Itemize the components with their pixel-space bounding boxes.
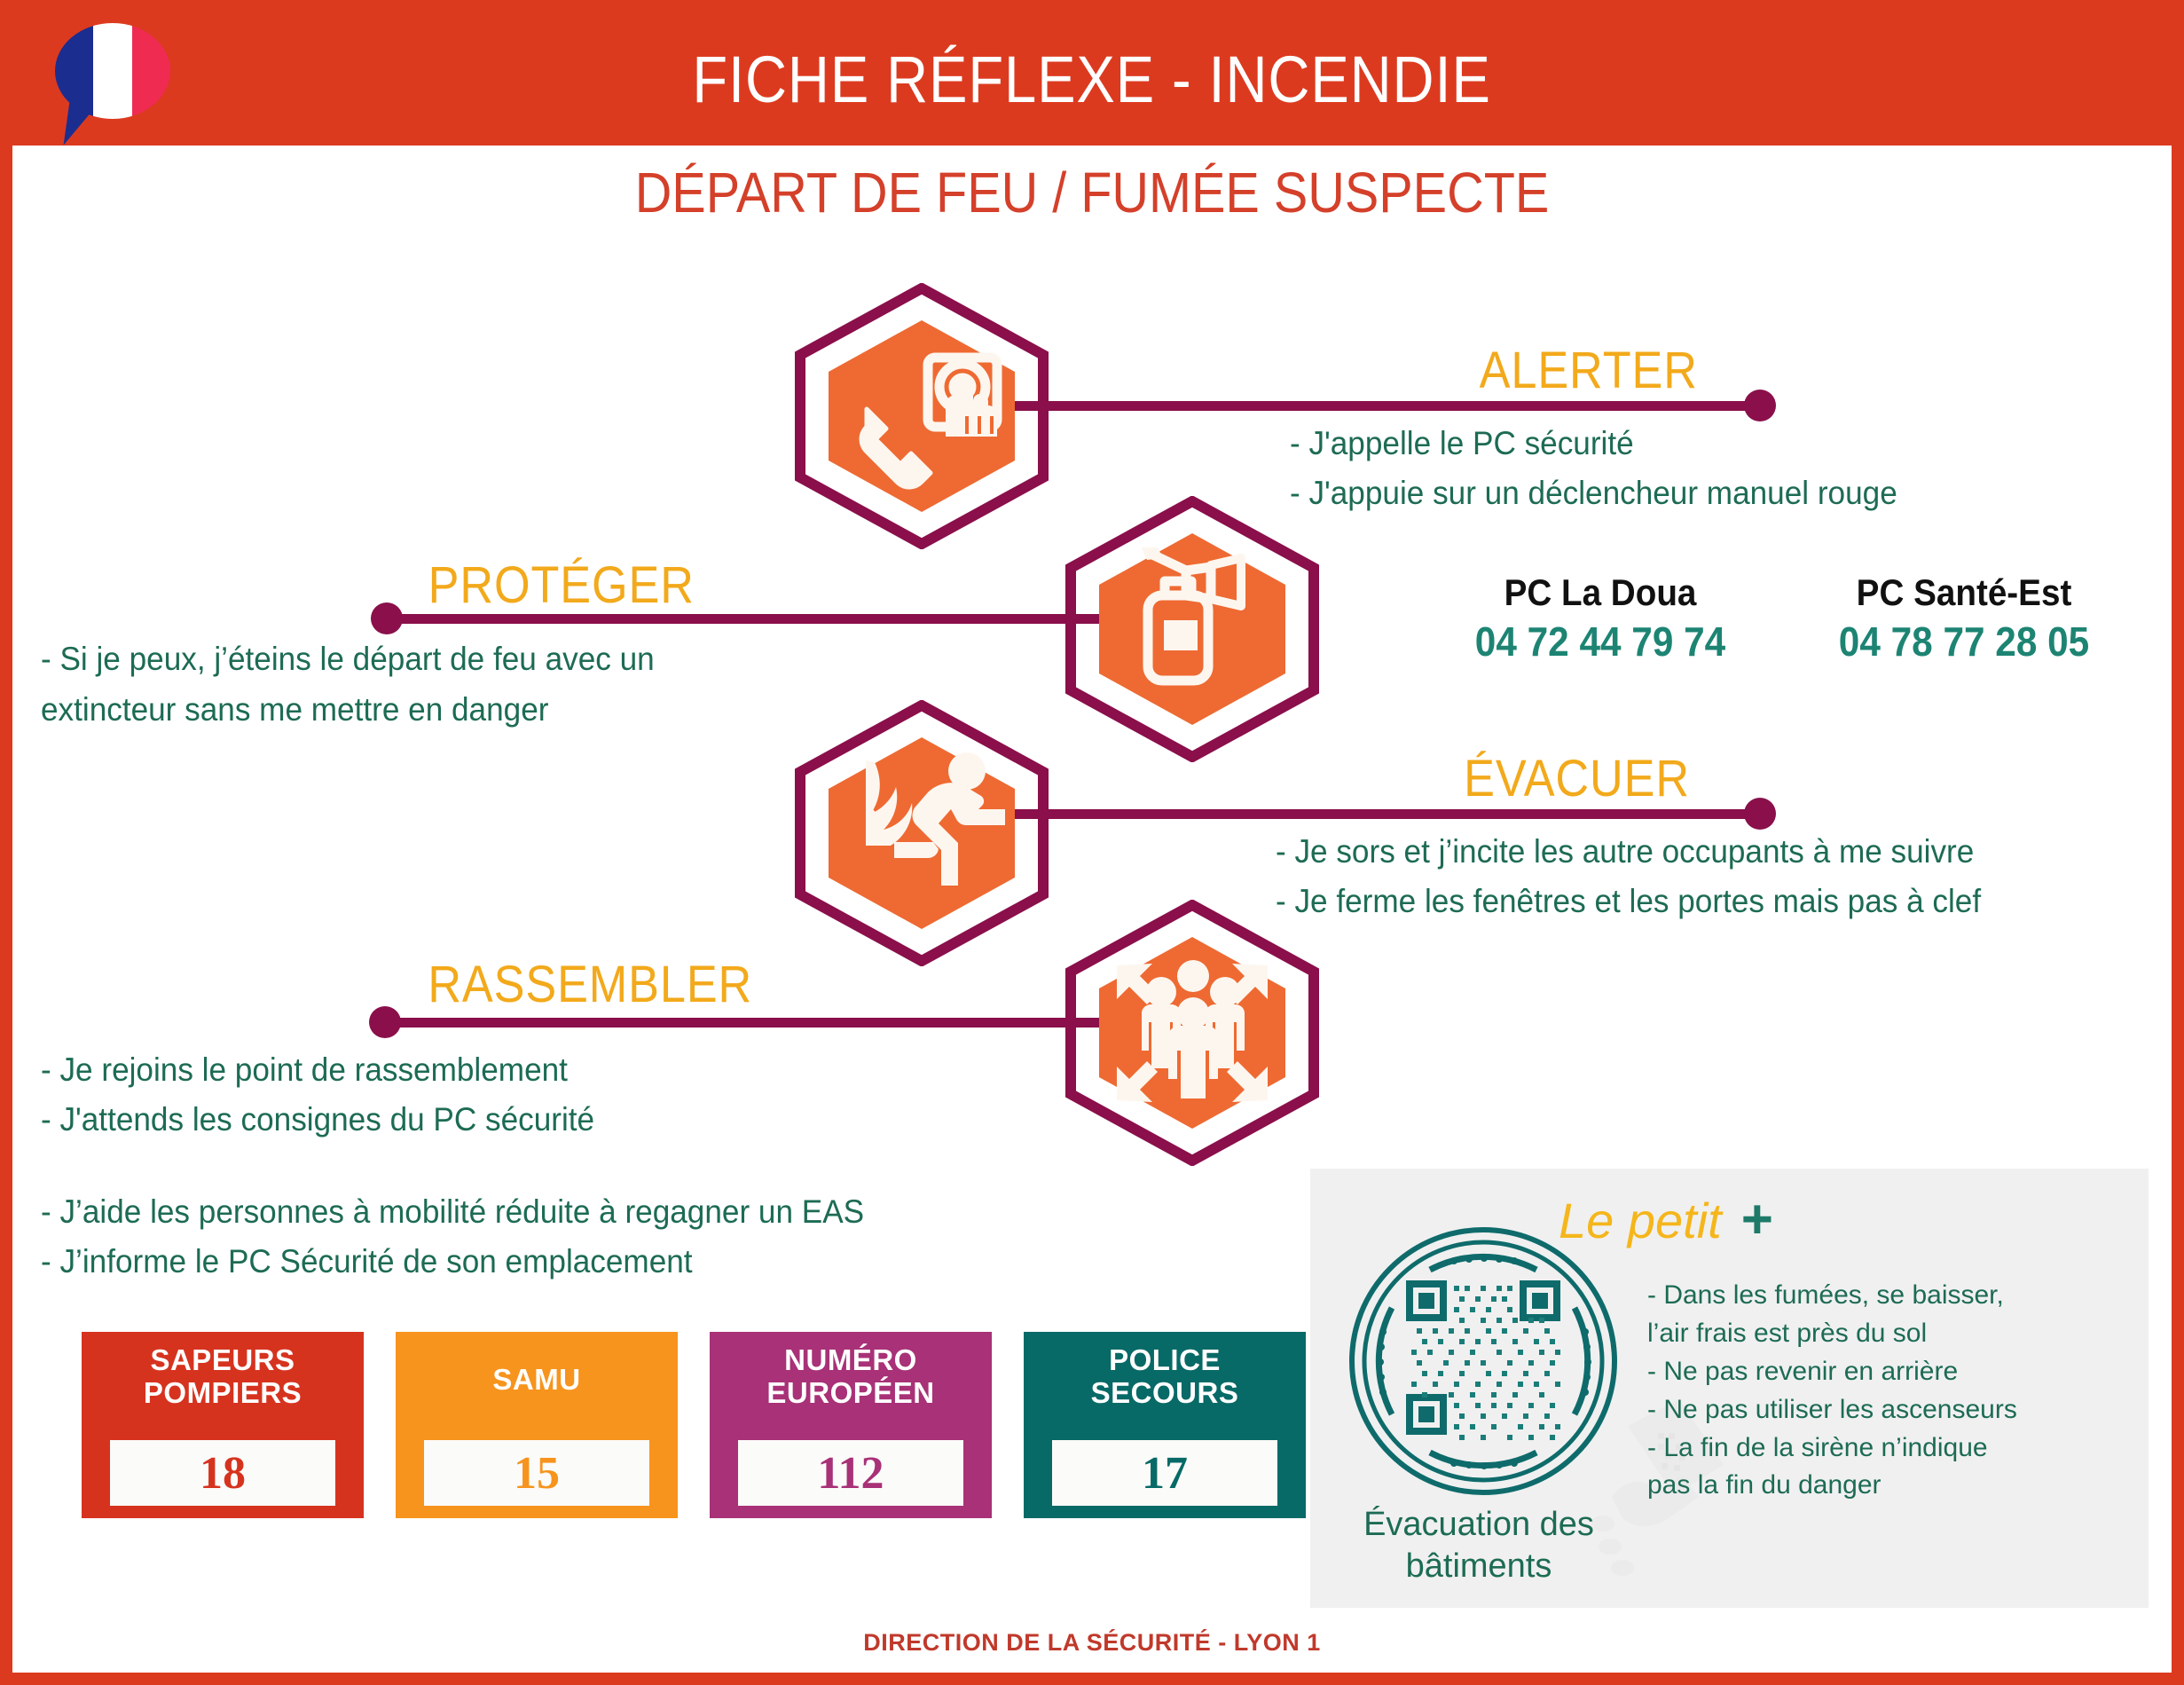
tip-line: - Ne pas utiliser les ascenseurs [1647, 1391, 2017, 1429]
emergency-card-label-line2: POMPIERS [144, 1377, 302, 1410]
emergency-card-numberbox: 112 [738, 1440, 963, 1506]
tip-line: l’air frais est près du sol [1647, 1315, 2017, 1353]
emergency-numbers-row: SAPEURS POMPIERS 18 SAMU 15 NUMÉRO EUROP… [82, 1332, 1306, 1518]
emergency-card-label-line2: EUROPÉEN [766, 1377, 934, 1410]
emergency-card-label-line2: SECOURS [1091, 1377, 1239, 1410]
le-petit-plus-panel: Le petit+ [1310, 1169, 2149, 1608]
phone-call-point-icon [793, 283, 1050, 549]
step-body-rassembler-line1: - Je rejoins le point de rassemblement [41, 1049, 568, 1091]
pc-contact-phone[interactable]: 04 72 44 79 74 [1462, 618, 1740, 665]
emergency-card-number: 17 [1142, 1447, 1188, 1500]
pc-contact-name: PC Santé-Est [1809, 571, 2119, 614]
emergency-card-numberbox: 18 [110, 1440, 335, 1506]
plus-sign-icon: + [1741, 1189, 1773, 1250]
tip-line: - Dans les fumées, se baisser, [1647, 1277, 2017, 1315]
step-body-rassembler-line2: - J'attends les consignes du PC sécurité [41, 1098, 594, 1140]
pmr-note-line1: - J’aide les personnes à mobilité réduit… [41, 1191, 864, 1232]
step-title-rassembler: RASSEMBLER [428, 955, 752, 1014]
hex-rassembler [1064, 900, 1321, 1166]
connector-rassembler [383, 1018, 1142, 1028]
pc-contact-sante-est: PC Santé-Est 04 78 77 28 05 [1795, 571, 2133, 665]
hex-proteger [1064, 496, 1321, 762]
step-body-alerter-line1: - J'appelle le PC sécurité [1290, 422, 1634, 464]
le-petit-plus-tips: - Dans les fumées, se baisser, l’air fra… [1647, 1277, 2017, 1505]
emergency-card-pompiers[interactable]: SAPEURS POMPIERS 18 [82, 1332, 364, 1518]
step-body-alerter-line2: - J'appuie sur un déclencheur manuel rou… [1290, 472, 1897, 514]
hex-alerter [793, 283, 1050, 549]
emergency-card-samu[interactable]: SAMU 15 [396, 1332, 678, 1518]
connector-evacuer [1010, 809, 1760, 819]
emergency-card-label-line1: SAPEURS [150, 1344, 295, 1377]
emergency-card-label-line1: SAMU [492, 1364, 580, 1397]
assembly-point-people-icon [1064, 900, 1321, 1166]
step-title-evacuer: ÉVACUER [1464, 749, 1690, 808]
tip-line: - La fin de la sirène n’indique [1647, 1429, 2017, 1468]
qr-caption-line1: Évacuation des [1319, 1504, 1638, 1546]
step-body-proteger-line1: - Si je peux, j’éteins le départ de feu … [41, 638, 655, 680]
poster-subtitle: DÉPART DE FEU / FUMÉE SUSPECTE [121, 160, 2064, 225]
connector-dot-proteger [371, 602, 403, 634]
poster-footer: DIRECTION DE LA SÉCURITÉ - LYON 1 [12, 1629, 2172, 1657]
emergency-card-label-line1: POLICE [1109, 1344, 1221, 1377]
emergency-card-label-line1: NUMÉRO [784, 1344, 917, 1377]
emergency-card-number: 18 [200, 1447, 246, 1500]
connector-proteger [385, 614, 1139, 624]
step-body-evacuer-line2: - Je ferme les fenêtres et les portes ma… [1276, 880, 1981, 922]
tip-line: pas la fin du danger [1647, 1467, 2017, 1505]
qr-caption-line2: bâtiments [1319, 1546, 1638, 1587]
connector-dot-evacuer [1744, 798, 1776, 830]
emergency-card-numberbox: 17 [1052, 1440, 1277, 1506]
connector-alerter [1010, 401, 1760, 411]
pc-contact-name: PC La Doua [1462, 571, 1740, 614]
pc-contact-la-doua: PC La Doua 04 72 44 79 74 [1449, 571, 1751, 665]
poster-header: FICHE RÉFLEXE - INCENDIE [12, 12, 2172, 146]
connector-dot-alerter [1744, 390, 1776, 421]
hex-evacuer [793, 700, 1050, 966]
fire-extinguisher-icon [1064, 496, 1321, 762]
step-body-evacuer-line1: - Je sors et j’incite les autre occupant… [1276, 831, 1974, 872]
french-flag-speech-bubble-icon [55, 23, 170, 137]
emergency-card-numero-europeen[interactable]: NUMÉRO EUROPÉEN 112 [710, 1332, 992, 1518]
emergency-card-number: 112 [817, 1447, 884, 1500]
step-body-proteger-line2: extincteur sans me mettre en danger [41, 689, 548, 730]
fire-evacuation-running-person-icon [793, 700, 1050, 966]
connector-dot-rassembler [369, 1006, 401, 1038]
tip-line: - Ne pas revenir en arrière [1647, 1353, 2017, 1391]
pc-contact-phone[interactable]: 04 78 77 28 05 [1809, 618, 2119, 665]
emergency-card-numberbox: 15 [424, 1440, 649, 1506]
pmr-note-line2: - J’informe le PC Sécurité de son emplac… [41, 1240, 693, 1282]
emergency-card-police-secours[interactable]: POLICE SECOURS 17 [1024, 1332, 1306, 1518]
fire-safety-poster: FICHE RÉFLEXE - INCENDIE DÉPART DE FEU /… [0, 0, 2184, 1685]
page-title: FICHE RÉFLEXE - INCENDIE [693, 42, 1491, 117]
emergency-card-number: 15 [514, 1447, 560, 1500]
qr-code-caption: Évacuation des bâtiments [1319, 1504, 1638, 1587]
step-title-proteger: PROTÉGER [428, 555, 695, 615]
step-title-alerter: ALERTER [1480, 341, 1698, 400]
